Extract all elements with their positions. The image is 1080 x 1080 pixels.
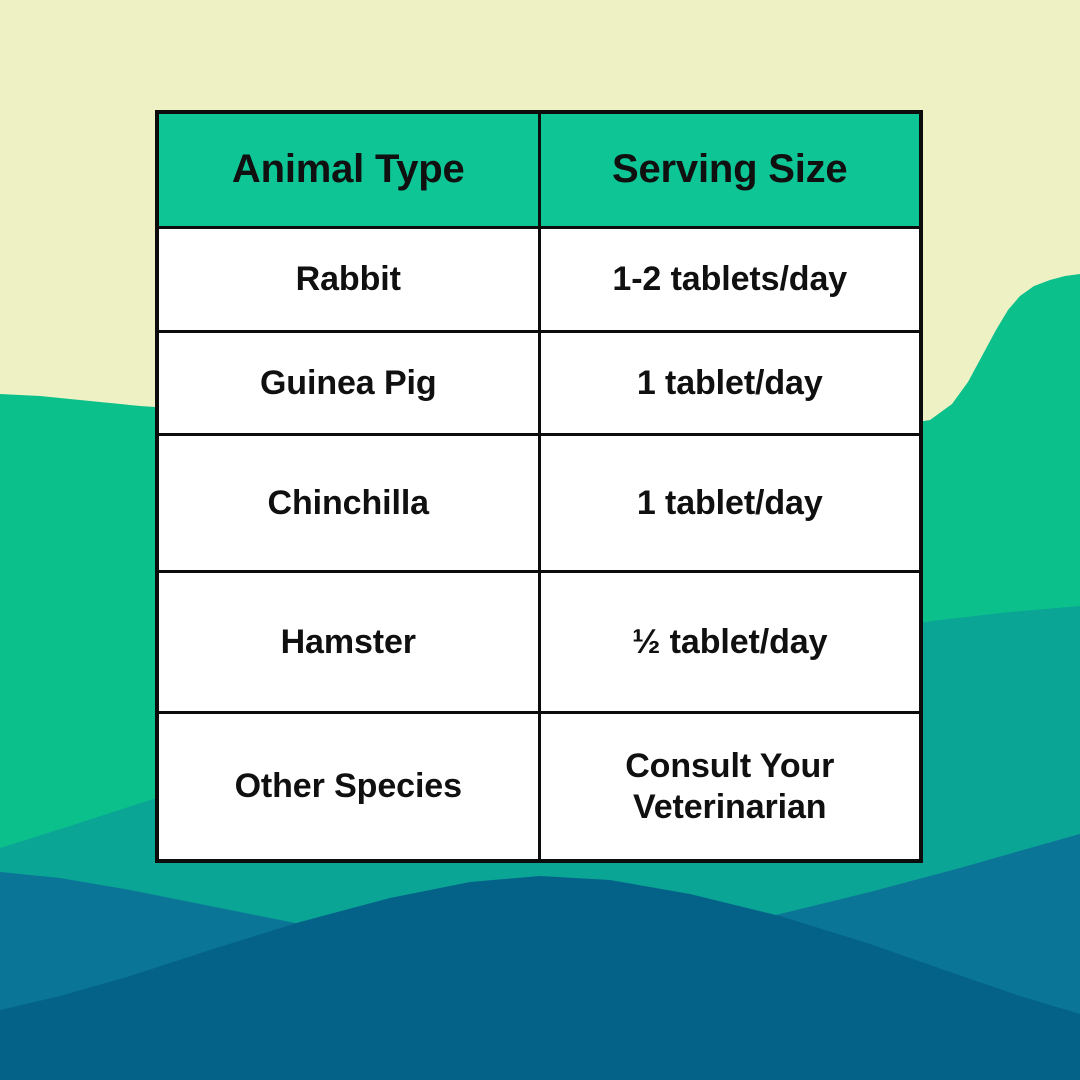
cell-serving-other-species: Consult Your Veterinarian [539, 713, 921, 862]
cell-serving-hamster: ½ tablet/day [539, 572, 921, 713]
cell-animal-rabbit: Rabbit [157, 228, 539, 332]
cell-animal-hamster: Hamster [157, 572, 539, 713]
table-header: Animal Type Serving Size [157, 112, 921, 228]
cell-serving-rabbit: 1-2 tablets/day [539, 228, 921, 332]
table-row: Hamster ½ tablet/day [157, 572, 921, 713]
column-header-animal-type: Animal Type [157, 112, 539, 228]
cell-animal-chinchilla: Chinchilla [157, 435, 539, 572]
header-row: Animal Type Serving Size [157, 112, 921, 228]
table-row: Other Species Consult Your Veterinarian [157, 713, 921, 862]
dosage-table-container: Animal Type Serving Size Rabbit 1-2 tabl… [155, 110, 923, 792]
table-row: Chinchilla 1 tablet/day [157, 435, 921, 572]
poster-scene: Animal Type Serving Size Rabbit 1-2 tabl… [0, 0, 1080, 1080]
column-header-serving-size: Serving Size [539, 112, 921, 228]
table-row: Rabbit 1-2 tablets/day [157, 228, 921, 332]
cell-animal-other-species: Other Species [157, 713, 539, 862]
cell-animal-guinea-pig: Guinea Pig [157, 332, 539, 435]
cell-serving-chinchilla: 1 tablet/day [539, 435, 921, 572]
dosage-table: Animal Type Serving Size Rabbit 1-2 tabl… [155, 110, 923, 863]
table-row: Guinea Pig 1 tablet/day [157, 332, 921, 435]
cell-serving-guinea-pig: 1 tablet/day [539, 332, 921, 435]
table-body: Rabbit 1-2 tablets/day Guinea Pig 1 tabl… [157, 228, 921, 862]
